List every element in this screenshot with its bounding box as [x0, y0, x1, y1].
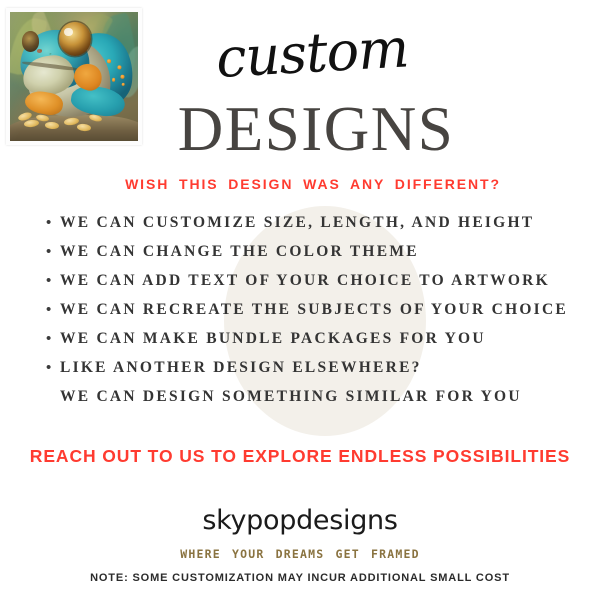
list-item: • WE CAN CUSTOMIZE SIZE, LENGTH, AND HEI…: [46, 214, 586, 243]
frog-spot: [107, 59, 111, 63]
bullet-icon: •: [46, 215, 60, 230]
script-heading-custom: custom: [215, 12, 577, 86]
cta-text: REACH OUT TO US TO EXPLORE ENDLESS POSSI…: [0, 446, 600, 467]
list-item: • WE CAN CHANGE THE COLOR THEME: [46, 243, 586, 272]
frog-right-eye: [59, 22, 91, 56]
brand-name: skypopdesigns: [0, 505, 600, 536]
list-item-label: WE CAN ADD TEXT OF YOUR CHOICE TO ARTWOR…: [60, 272, 550, 290]
bullet-icon: •: [46, 302, 60, 317]
list-item: • WE CAN ADD TEXT OF YOUR CHOICE TO ARTW…: [46, 272, 586, 301]
list-item-label: LIKE ANOTHER DESIGN ELSEWHERE?: [60, 359, 422, 377]
custom-designs-infographic: custom DESIGNS WISH THIS DESIGN WAS ANY …: [0, 0, 600, 600]
list-item-continuation: WE CAN DESIGN SOMETHING SIMILAR FOR YOU: [46, 388, 586, 418]
frog-spot: [117, 65, 122, 70]
feature-list: • WE CAN CUSTOMIZE SIZE, LENGTH, AND HEI…: [46, 214, 586, 418]
list-item-label: WE CAN DESIGN SOMETHING SIMILAR FOR YOU: [60, 388, 522, 406]
list-item: • WE CAN MAKE BUNDLE PACKAGES FOR YOU: [46, 330, 586, 359]
bullet-icon: •: [46, 244, 60, 259]
subtitle-question: WISH THIS DESIGN WAS ANY DIFFERENT?: [0, 176, 600, 192]
bullet-icon: •: [46, 360, 60, 375]
frog-spot: [121, 74, 125, 78]
list-item: • WE CAN RECREATE THE SUBJECTS OF YOUR C…: [46, 301, 586, 330]
frog-spot: [112, 78, 116, 82]
list-item-label: WE CAN CHANGE THE COLOR THEME: [60, 243, 419, 261]
footer-note: NOTE: SOME CUSTOMIZATION MAY INCUR ADDIT…: [0, 572, 600, 584]
frog-spot: [121, 82, 125, 85]
list-item-label: WE CAN MAKE BUNDLE PACKAGES FOR YOU: [60, 330, 486, 348]
list-item: • LIKE ANOTHER DESIGN ELSEWHERE?: [46, 359, 586, 388]
bullet-icon: •: [46, 273, 60, 288]
list-item-label: WE CAN CUSTOMIZE SIZE, LENGTH, AND HEIGH…: [60, 214, 534, 232]
page-title-designs: DESIGNS: [0, 98, 600, 161]
bullet-icon: •: [46, 331, 60, 346]
brand-tagline: WHERE YOUR DREAMS GET FRAMED: [0, 547, 600, 561]
list-item-label: WE CAN RECREATE THE SUBJECTS OF YOUR CHO…: [60, 301, 568, 319]
